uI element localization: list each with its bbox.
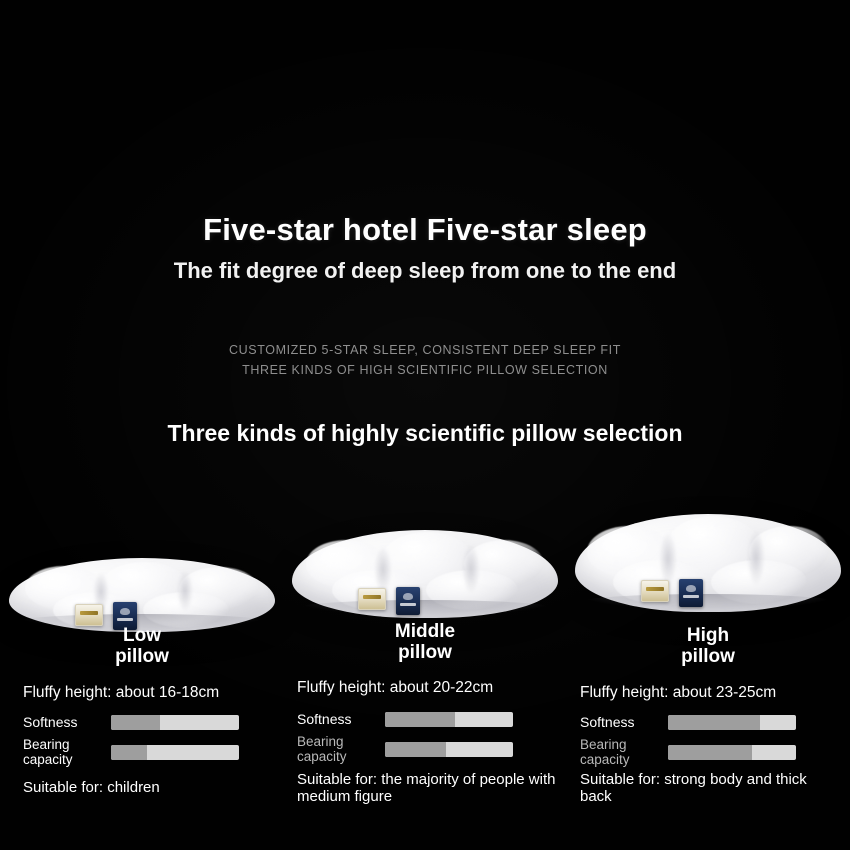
headline: Five-star hotel Five-star sleep (0, 212, 850, 248)
micro-caption-line-1: CUSTOMIZED 5-STAR SLEEP, CONSISTENT DEEP… (0, 343, 850, 357)
meter-label-bearing-line-2: capacity (580, 752, 630, 767)
fluffy-height-middle: Fluffy height: about 20-22cm (297, 679, 493, 697)
meter-label-softness: Softness (297, 712, 385, 727)
pillow-gold-tag (641, 580, 669, 602)
meter-fill (668, 715, 760, 730)
pillow-comparison: Low pillow Fluffy height: about 16-18cm … (0, 495, 850, 850)
pillow-seam (462, 544, 480, 594)
pillow-image-low (9, 517, 275, 632)
meter-bar-softness (385, 712, 513, 727)
pillow-image-middle (292, 503, 558, 618)
pillow-meters-low: Softness Bearing capacity (23, 710, 239, 770)
meter-fill (111, 745, 147, 760)
meter-row-softness: Softness (297, 707, 513, 731)
meter-label-softness: Softness (23, 715, 111, 730)
meter-label-bearing-line-1: Bearing (297, 734, 344, 749)
subheadline: The fit degree of deep sleep from one to… (0, 258, 850, 284)
pillow-body (575, 514, 841, 612)
suitable-for-middle: Suitable for: the majority of people wit… (297, 771, 565, 805)
meter-fill (111, 715, 160, 730)
meter-row-bearing: Bearing capacity (580, 740, 796, 764)
pillow-name-low: Low pillow (0, 625, 284, 667)
meter-label-bearing-line-2: capacity (297, 749, 347, 764)
meter-label-bearing: Bearing capacity (23, 737, 111, 767)
pillow-gold-tag (358, 588, 386, 610)
pillow-name-line-1: High (566, 625, 850, 646)
pillow-body (9, 558, 275, 632)
meter-bar-bearing (668, 745, 796, 760)
pillow-seam (177, 570, 193, 612)
meter-fill (385, 712, 455, 727)
pillow-seam (659, 532, 677, 586)
meter-row-bearing: Bearing capacity (23, 740, 239, 764)
meter-fill (385, 742, 446, 757)
pillow-meters-high: Softness Bearing capacity (580, 710, 796, 770)
meter-bar-bearing (385, 742, 513, 757)
meter-bar-softness (668, 715, 796, 730)
pillow-edge-shadow (298, 600, 552, 616)
pillow-card-middle: Middle pillow Fluffy height: about 20-22… (283, 495, 567, 850)
meter-label-bearing: Bearing capacity (297, 734, 385, 764)
pillow-card-high: High pillow Fluffy height: about 23-25cm… (566, 495, 850, 850)
micro-caption-line-2: THREE KINDS OF HIGH SCIENTIFIC PILLOW SE… (0, 363, 850, 377)
meter-bar-bearing (111, 745, 239, 760)
meter-row-bearing: Bearing capacity (297, 737, 513, 761)
pillow-name-high: High pillow (566, 625, 850, 667)
meter-bar-softness (111, 715, 239, 730)
meter-fill (668, 745, 752, 760)
pillow-name-line-1: Middle (283, 621, 567, 642)
pillow-navy-tag (679, 579, 703, 607)
pillow-body (292, 530, 558, 618)
pillow-name-line-2: pillow (566, 646, 850, 667)
pillow-edge-shadow (581, 594, 835, 610)
poster-canvas: Five-star hotel Five-star sleep The fit … (0, 0, 850, 850)
fluffy-height-high: Fluffy height: about 23-25cm (580, 684, 776, 702)
meter-label-bearing-line-1: Bearing (580, 737, 627, 752)
pillow-meters-middle: Softness Bearing capacity (297, 707, 513, 767)
pillow-name-middle: Middle pillow (283, 621, 567, 663)
meter-label-bearing-line-2: capacity (23, 752, 73, 767)
meter-label-softness: Softness (580, 715, 668, 730)
pillow-card-low: Low pillow Fluffy height: about 16-18cm … (0, 495, 284, 850)
pillow-name-line-2: pillow (283, 642, 567, 663)
fluffy-height-low: Fluffy height: about 16-18cm (23, 684, 219, 702)
pillow-navy-tag (396, 587, 420, 615)
pillow-seam (374, 546, 392, 594)
section-title: Three kinds of highly scientific pillow … (0, 420, 850, 447)
pillow-gold-tag (75, 604, 103, 626)
meter-row-softness: Softness (580, 710, 796, 734)
suitable-for-low: Suitable for: children (23, 779, 273, 796)
meter-label-bearing-line-1: Bearing (23, 737, 70, 752)
pillow-name-line-1: Low (0, 625, 284, 646)
pillow-seam (747, 530, 765, 586)
pillow-image-high (575, 497, 841, 612)
meter-label-bearing: Bearing capacity (580, 737, 668, 767)
pillow-name-line-2: pillow (0, 646, 284, 667)
suitable-for-high: Suitable for: strong body and thick back (580, 771, 815, 805)
meter-row-softness: Softness (23, 710, 239, 734)
